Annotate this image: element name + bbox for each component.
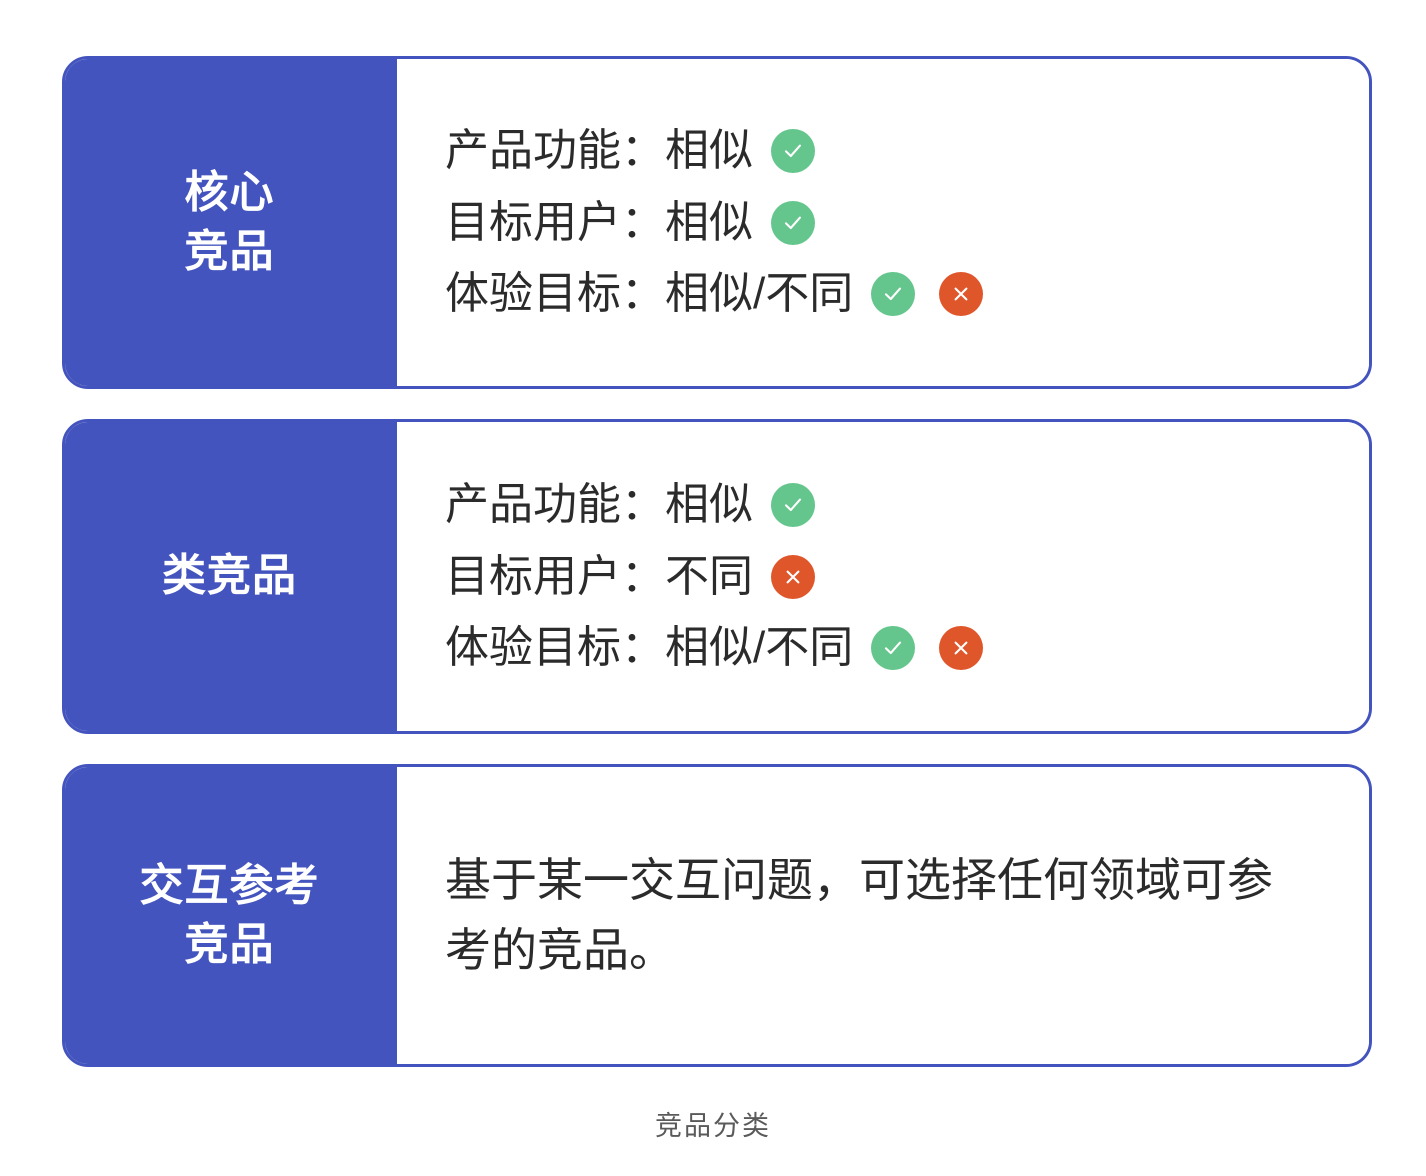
- attribute-label: 产品功能：: [445, 115, 665, 187]
- card-label-text: 类竞品: [162, 547, 297, 606]
- card-content-panel: 产品功能： 相似 目标用户： 不同: [397, 422, 1369, 731]
- card-label-panel: 类竞品: [62, 419, 397, 734]
- card-label-panel: 交互参考 竞品: [62, 764, 397, 1067]
- attribute-label: 体验目标：: [445, 258, 665, 330]
- attribute-value: 相似: [665, 115, 753, 187]
- card-content-panel: 产品功能： 相似 目标用户： 相似: [397, 59, 1369, 386]
- card-description-text: 基于某一交互问题，可选择任何领域可参考的竞品。: [445, 846, 1305, 986]
- attribute-row: 体验目标： 相似/不同: [445, 258, 1323, 330]
- cross-icon: [771, 555, 815, 599]
- card-similar-competitor: 类竞品 产品功能： 相似 目标用户： 不同: [62, 419, 1372, 734]
- card-label-text: 交互参考 竞品: [140, 857, 320, 974]
- attribute-row: 体验目标： 相似/不同: [445, 612, 1323, 684]
- attribute-value: 相似: [665, 187, 753, 259]
- card-interaction-reference-competitor: 交互参考 竞品 基于某一交互问题，可选择任何领域可参考的竞品。: [62, 764, 1372, 1067]
- check-icon: [771, 483, 815, 527]
- attribute-value: 相似: [665, 469, 753, 541]
- attribute-badges: [771, 483, 815, 527]
- competitor-classification-figure: 核心 竞品 产品功能： 相似 目标用户： 相: [0, 0, 1426, 1176]
- cross-icon: [939, 272, 983, 316]
- attribute-badges: [771, 201, 815, 245]
- figure-caption: 竞品分类: [0, 1104, 1426, 1143]
- attribute-label: 体验目标：: [445, 612, 665, 684]
- check-icon: [871, 626, 915, 670]
- attribute-label: 目标用户：: [445, 187, 665, 259]
- attribute-badges: [771, 555, 815, 599]
- attribute-row: 目标用户： 相似: [445, 187, 1323, 259]
- card-list: 核心 竞品 产品功能： 相似 目标用户： 相: [62, 56, 1372, 1067]
- card-label-panel: 核心 竞品: [62, 56, 397, 389]
- attribute-label: 产品功能：: [445, 469, 665, 541]
- attribute-label: 目标用户：: [445, 541, 665, 613]
- check-icon: [771, 201, 815, 245]
- card-label-text: 核心 竞品: [185, 164, 275, 281]
- attribute-row: 产品功能： 相似: [445, 115, 1323, 187]
- attribute-row: 产品功能： 相似: [445, 469, 1323, 541]
- check-icon: [871, 272, 915, 316]
- attribute-value: 相似/不同: [665, 612, 853, 684]
- cross-icon: [939, 626, 983, 670]
- attribute-row: 目标用户： 不同: [445, 541, 1323, 613]
- attribute-value: 不同: [665, 541, 753, 613]
- attribute-badges: [871, 272, 983, 316]
- check-icon: [771, 129, 815, 173]
- card-content-panel: 基于某一交互问题，可选择任何领域可参考的竞品。: [397, 767, 1369, 1064]
- card-core-competitor: 核心 竞品 产品功能： 相似 目标用户： 相: [62, 56, 1372, 389]
- attribute-badges: [871, 626, 983, 670]
- attribute-value: 相似/不同: [665, 258, 853, 330]
- attribute-badges: [771, 129, 815, 173]
